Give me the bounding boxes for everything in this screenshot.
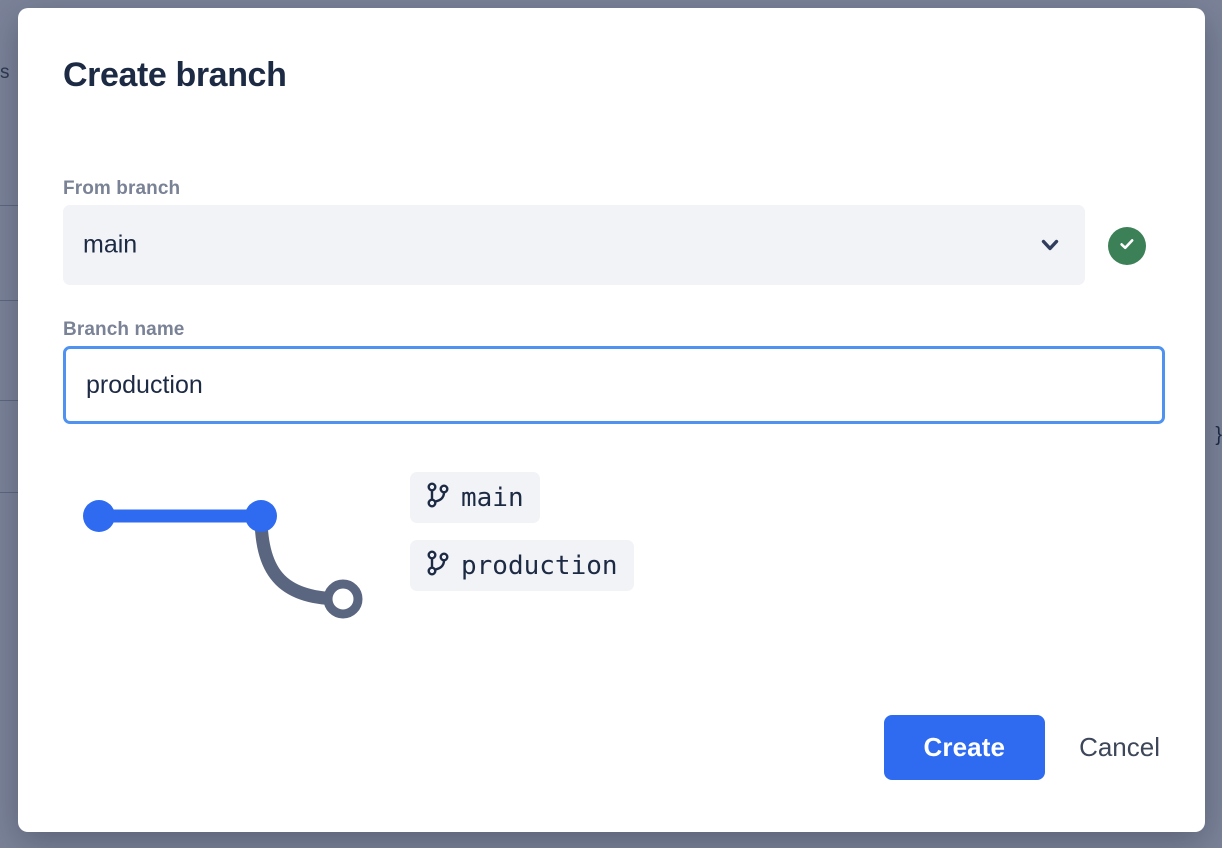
git-branch-icon [426, 482, 450, 513]
from-branch-value: main [83, 231, 137, 260]
graph-node-commit [245, 500, 277, 532]
background-text-fragment-left: s [0, 62, 10, 84]
create-button[interactable]: Create [884, 715, 1046, 780]
graph-node-commit [83, 500, 115, 532]
background-divider [0, 205, 20, 206]
branch-graph [63, 472, 393, 642]
background-divider [0, 400, 20, 401]
branch-name-input[interactable] [63, 346, 1165, 424]
background-text-fragment-right: } [1215, 424, 1222, 447]
check-circle-icon [1117, 234, 1137, 259]
from-branch-select[interactable]: main [63, 205, 1085, 285]
background-divider [0, 492, 20, 493]
list-item: main [410, 472, 830, 540]
branch-valid-badge [1108, 227, 1146, 265]
branch-name-label: Branch name [63, 319, 184, 341]
list-item: production [410, 540, 830, 608]
branch-chip-main: main [410, 472, 540, 523]
dialog-title: Create branch [63, 56, 286, 95]
from-branch-row: main [63, 205, 1173, 285]
cancel-button[interactable]: Cancel [1079, 732, 1160, 763]
branch-chip-label: production [461, 553, 618, 579]
background-divider [0, 300, 20, 301]
graph-node-new-branch [328, 584, 358, 614]
git-branch-icon [426, 550, 450, 581]
branch-chip-production: production [410, 540, 634, 591]
dialog-actions: Create Cancel [884, 715, 1160, 780]
create-branch-dialog: Create branch From branch main Branch na… [18, 8, 1205, 832]
branch-chip-label: main [461, 485, 524, 511]
from-branch-label: From branch [63, 178, 180, 200]
branch-chip-list: main production [410, 472, 830, 608]
chevron-down-icon[interactable] [1039, 234, 1061, 256]
